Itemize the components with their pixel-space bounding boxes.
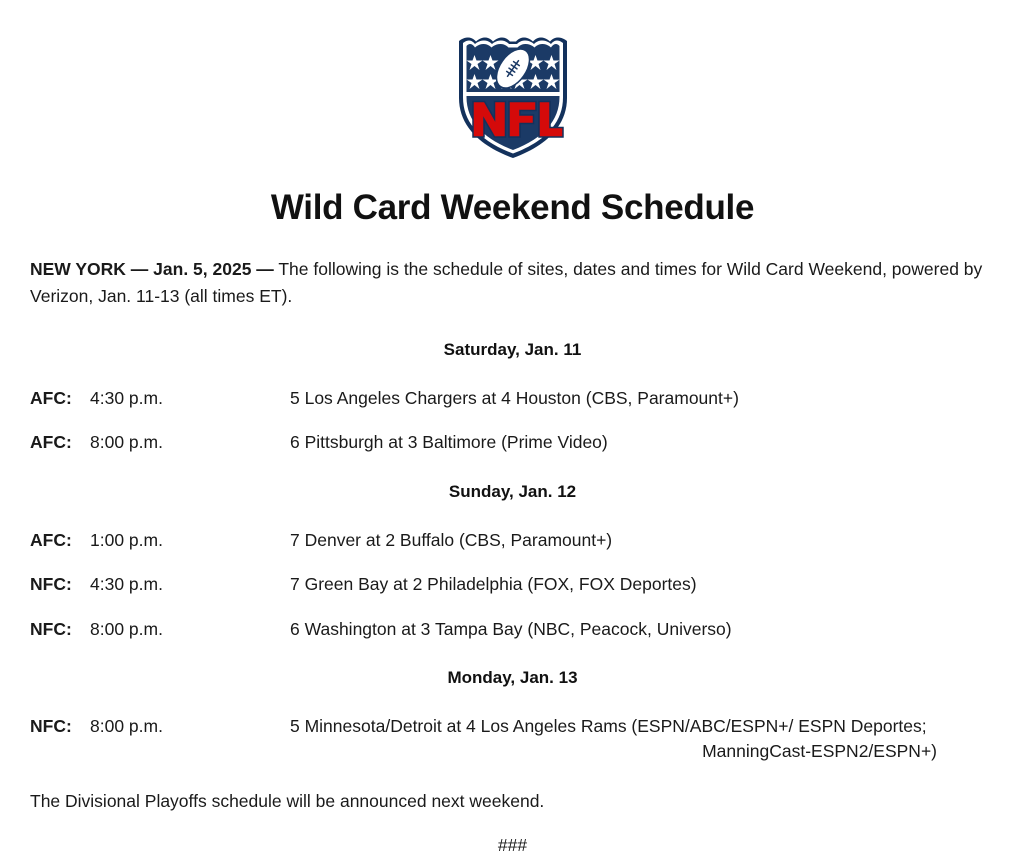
kickoff-time: 4:30 p.m. [90,572,290,597]
table-row: NFC: 4:30 p.m. 7 Green Bay at 2 Philadel… [30,572,995,597]
colon: : [66,574,72,594]
conference-label: NFC: [30,714,90,739]
matchup-text: 5 Los Angeles Chargers at 4 Houston (CBS… [290,386,995,411]
colon: : [66,716,72,736]
end-mark: ### [30,835,995,856]
matchup-line-2: ManningCast-ESPN2/ESPN+) [290,739,995,764]
intro-paragraph: NEW YORK — Jan. 5, 2025 — The following … [30,256,995,310]
page-title: Wild Card Weekend Schedule [30,190,995,227]
dateline: NEW YORK — Jan. 5, 2025 — [30,259,274,279]
kickoff-time: 8:00 p.m. [90,714,290,739]
kickoff-time: 8:00 p.m. [90,617,290,642]
matchup-line-1: 5 Minnesota/Detroit at 4 Los Angeles Ram… [290,716,927,736]
colon: : [66,432,72,452]
day-heading-monday: Monday, Jan. 13 [30,668,995,688]
conference-label: AFC: [30,386,90,411]
logo-container [30,0,995,161]
matchup-text: 7 Denver at 2 Buffalo (CBS, Paramount+) [290,528,995,553]
colon: : [66,619,72,639]
conference-label: AFC: [30,528,90,553]
table-row: AFC: 1:00 p.m. 7 Denver at 2 Buffalo (CB… [30,528,995,553]
closing-note: The Divisional Playoffs schedule will be… [30,789,995,814]
conference-label: NFC: [30,617,90,642]
table-row: NFC: 8:00 p.m. 5 Minnesota/Detroit at 4 … [30,714,995,765]
table-row: AFC: 8:00 p.m. 6 Pittsburgh at 3 Baltimo… [30,430,995,455]
matchup-text: 6 Washington at 3 Tampa Bay (NBC, Peacoc… [290,617,995,642]
kickoff-time: 4:30 p.m. [90,386,290,411]
kickoff-time: 1:00 p.m. [90,528,290,553]
table-row: NFC: 8:00 p.m. 6 Washington at 3 Tampa B… [30,617,995,642]
conference-label: AFC: [30,430,90,455]
colon: : [66,530,72,550]
nfl-shield-icon [456,33,570,161]
press-release-page: Wild Card Weekend Schedule NEW YORK — Ja… [0,0,1025,797]
table-row: AFC: 4:30 p.m. 5 Los Angeles Chargers at… [30,386,995,411]
matchup-text: 6 Pittsburgh at 3 Baltimore (Prime Video… [290,430,995,455]
day-heading-saturday: Saturday, Jan. 11 [30,340,995,360]
kickoff-time: 8:00 p.m. [90,430,290,455]
matchup-text: 7 Green Bay at 2 Philadelphia (FOX, FOX … [290,572,995,597]
colon: : [66,388,72,408]
day-heading-sunday: Sunday, Jan. 12 [30,482,995,502]
conference-label: NFC: [30,572,90,597]
matchup-text: 5 Minnesota/Detroit at 4 Los Angeles Ram… [290,714,995,765]
